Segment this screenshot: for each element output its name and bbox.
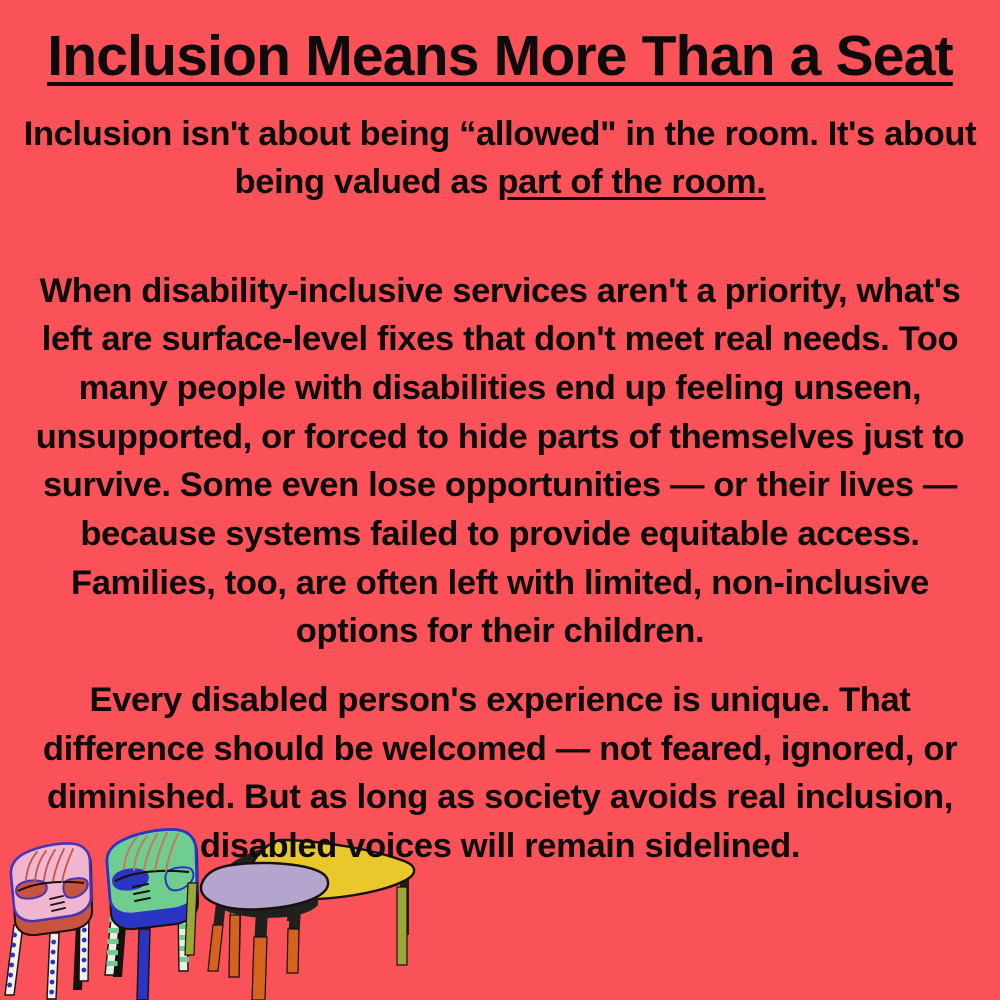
lede-emphasis-text: part of the room. xyxy=(497,163,765,201)
page-title: Inclusion Means More Than a Seat xyxy=(14,0,986,88)
page-title-text: Inclusion Means More Than a Seat xyxy=(47,24,953,88)
poster-content: Inclusion Means More Than a Seat Inclusi… xyxy=(0,0,1000,871)
poster-canvas: Inclusion Means More Than a Seat Inclusi… xyxy=(0,0,1000,1000)
closing-paragraph: Every disabled person's experience is un… xyxy=(14,656,986,871)
lede-paragraph: Inclusion isn't about being “allowed" in… xyxy=(14,88,986,207)
lavender-table-icon xyxy=(201,863,328,1000)
body-paragraph: When disability-inclusive services aren'… xyxy=(14,207,986,656)
